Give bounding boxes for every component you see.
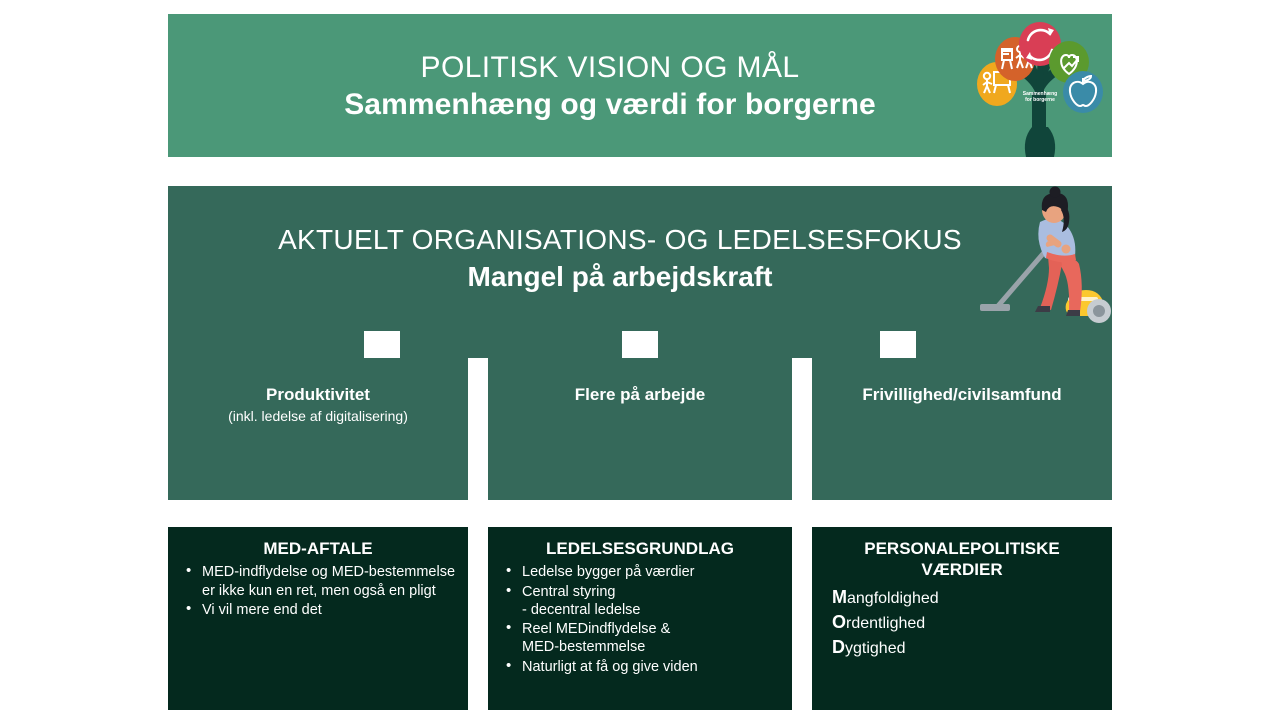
list-item: Naturligt at få og give viden — [500, 658, 780, 676]
value-rest: ygtighed — [845, 640, 906, 657]
connector-leg-1 — [168, 331, 364, 358]
list-item: Reel MEDindflydelse & MED-bestemmelse — [500, 620, 780, 657]
dark-box-med-aftale[interactable]: MED-AFTALE MED-indflydelse og MED-bestem… — [168, 527, 468, 710]
logo-label-line2: for borgerne — [1025, 97, 1055, 103]
bullet-text: MED-indflydelse og MED-bestemmelse er ik… — [202, 564, 455, 598]
bullet-text: Vi vil mere end det — [202, 602, 322, 618]
tree-logo-icon: Sammenhæng for borgerne — [970, 22, 1110, 157]
focus-box-title: Frivillighed/civilsamfund — [812, 384, 1112, 405]
list-item: Dygtighed — [832, 635, 1100, 660]
vision-subheading: Sammenhæng og værdi for borgerne — [344, 88, 876, 121]
logo-bubble-apple-icon — [1063, 71, 1103, 113]
focus-box-subtitle: (inkl. ledelse af digitalisering) — [168, 407, 468, 425]
bullet-subtext: MED-bestemmelse — [522, 638, 780, 656]
bullet-text: Naturligt at få og give viden — [522, 659, 698, 675]
focus-box-title: Produktivitet — [168, 384, 468, 405]
list-item: Mangfoldighed — [832, 585, 1100, 610]
values-list: Mangfoldighed Ordentlighed Dygtighed — [824, 585, 1100, 660]
value-rest: rdentlighed — [846, 615, 925, 632]
fokus-heading: AKTUELT ORGANISATIONS- OG LEDELSESFOKUS — [278, 225, 962, 256]
focus-box-flere-paa-arbejde[interactable]: Flere på arbejde — [488, 358, 792, 500]
person-vacuuming-icon — [962, 186, 1112, 331]
bullet-text: Central styring — [522, 584, 615, 600]
focus-box-frivillighed[interactable]: Frivillighed/civilsamfund — [812, 358, 1112, 500]
connector-leg-3 — [658, 331, 880, 358]
dark-box-bullet-list: Ledelse bygger på værdier Central styrin… — [500, 563, 780, 676]
bullet-text: Ledelse bygger på værdier — [522, 564, 695, 580]
connector-leg-2 — [400, 331, 622, 358]
bullet-text: Reel MEDindflydelse & — [522, 621, 670, 637]
fokus-subheading: Mangel på arbejdskraft — [468, 262, 773, 293]
value-initial: M — [832, 587, 847, 607]
list-item: Ordentlighed — [832, 610, 1100, 635]
dark-box-ledelsesgrundlag[interactable]: LEDELSESGRUNDLAG Ledelse bygger på værdi… — [488, 527, 792, 710]
focus-box-produktivitet[interactable]: Produktivitet (inkl. ledelse af digitali… — [168, 358, 468, 500]
banner-politisk-vision: POLITISK VISION OG MÅL Sammenhæng og vær… — [168, 14, 1112, 157]
bullet-subtext: - decentral ledelse — [522, 601, 780, 619]
list-item: MED-indflydelse og MED-bestemmelse er ik… — [180, 563, 456, 600]
value-initial: D — [832, 637, 845, 657]
vision-heading: POLITISK VISION OG MÅL — [421, 51, 800, 84]
list-item: Central styring - decentral ledelse — [500, 583, 780, 620]
dark-box-personalepolitiske-vaerdier[interactable]: PERSONALEPOLITISKE VÆRDIER Mangfoldighed… — [812, 527, 1112, 710]
connector-leg-4 — [916, 331, 1112, 358]
value-initial: O — [832, 612, 846, 632]
value-rest: angfoldighed — [847, 590, 939, 607]
list-item: Ledelse bygger på værdier — [500, 563, 780, 581]
dark-box-title: PERSONALEPOLITISKE VÆRDIER — [824, 538, 1100, 581]
dark-box-title: MED-AFTALE — [180, 538, 456, 559]
banner-aktuelt-fokus: AKTUELT ORGANISATIONS- OG LEDELSESFOKUS … — [168, 186, 1112, 331]
list-item: Vi vil mere end det — [180, 601, 456, 619]
slide-canvas: POLITISK VISION OG MÅL Sammenhæng og vær… — [0, 0, 1280, 720]
dark-box-title: LEDELSESGRUNDLAG — [500, 538, 780, 559]
dark-box-bullet-list: MED-indflydelse og MED-bestemmelse er ik… — [180, 563, 456, 619]
focus-box-title: Flere på arbejde — [488, 384, 792, 405]
